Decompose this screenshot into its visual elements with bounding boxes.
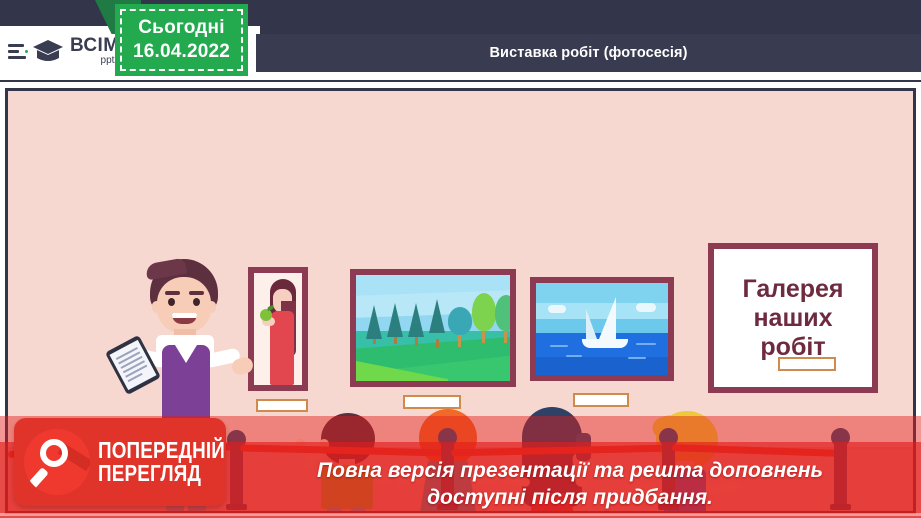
purchase-notice: Повна версія презентації та решта доповн… xyxy=(250,458,890,512)
guide-brow-right xyxy=(189,291,204,295)
artwork-landscape-with-trees[interactable] xyxy=(350,269,516,387)
sailboat-jib xyxy=(586,309,597,339)
pine-trunk xyxy=(415,337,418,346)
guide-ear-left xyxy=(152,301,161,313)
portrait-canvas xyxy=(254,273,302,385)
slide-header: ВСІМ pptx Сьогодні 16.04.2022 Виставка р… xyxy=(0,0,921,88)
guide-brow-left xyxy=(165,291,180,295)
plaque-portrait xyxy=(256,399,308,412)
logo-subtext: pptx xyxy=(70,56,119,66)
landscape-canvas xyxy=(356,275,510,381)
date-badge-label: Сьогодні xyxy=(138,17,224,39)
header-navy-right xyxy=(260,0,921,34)
page-title: Виставка робіт (фотосесія) xyxy=(489,45,687,61)
plaque-landscape xyxy=(403,395,461,409)
artwork-seascape-with-sailboat[interactable] xyxy=(530,277,674,381)
magnifier-icon xyxy=(24,429,90,495)
magnifier-handle xyxy=(26,467,49,491)
preview-badge-label: ПОПЕРЕДНІЙ ПЕРЕГЛЯД xyxy=(98,439,253,486)
apple-icon xyxy=(260,309,272,321)
preview-badge[interactable]: ПОПЕРЕДНІЙ ПЕРЕГЛЯД xyxy=(14,418,226,506)
pine-tree xyxy=(408,303,424,337)
sea-water-deep xyxy=(536,357,668,375)
wave-line xyxy=(628,357,646,359)
guide-face xyxy=(157,277,211,333)
pine-tree xyxy=(429,299,445,333)
wave-line xyxy=(566,355,582,357)
round-tree-teal xyxy=(448,307,472,335)
wave-line xyxy=(636,343,656,345)
date-badge: Сьогодні 16.04.2022 xyxy=(115,4,248,76)
magnifier-ring xyxy=(40,439,68,467)
guide-ear-right xyxy=(207,301,216,313)
speed-lines-icon xyxy=(8,44,26,59)
logo-accent-dot xyxy=(25,50,28,53)
guide-eye-right xyxy=(193,298,200,306)
logo-wordmark: ВСІМ xyxy=(70,36,119,55)
sailboat-mainsail xyxy=(599,297,616,339)
preview-badge-line-2: ПЕРЕГЛЯД xyxy=(98,462,225,485)
guide-teeth xyxy=(172,313,197,318)
round-tree-green xyxy=(472,293,496,331)
sailboat-hull xyxy=(582,339,628,348)
guide-eye-left xyxy=(168,298,175,306)
purchase-notice-line-1: Повна версія презентації та решта доповн… xyxy=(250,458,890,485)
graduation-cap-icon xyxy=(31,34,65,68)
plaque-gallery-sign xyxy=(778,357,836,371)
watermark-band-edge xyxy=(0,513,921,516)
plaque-seascape xyxy=(573,393,629,407)
date-badge-value: 16.04.2022 xyxy=(133,41,230,63)
round-tree-mid xyxy=(495,295,510,331)
presentation-slide: ВСІМ pptx Сьогодні 16.04.2022 Виставка р… xyxy=(0,0,921,518)
seascape-canvas xyxy=(536,283,668,375)
purchase-notice-line-2: доступні після придбання. xyxy=(250,485,890,512)
wave-line xyxy=(550,345,568,347)
pine-tree xyxy=(366,305,382,339)
tablet-screen xyxy=(109,340,156,390)
cloud-icon xyxy=(548,305,566,313)
cloud-icon xyxy=(636,303,656,312)
gallery-sign-line-2: наших xyxy=(753,304,832,332)
preview-badge-line-1: ПОПЕРЕДНІЙ xyxy=(98,439,225,462)
pine-trunk xyxy=(436,339,439,348)
slide-title-bar: Виставка робіт (фотосесія) xyxy=(256,34,921,72)
gallery-sign-line-1: Галерея xyxy=(743,275,844,303)
brand-logo[interactable]: ВСІМ pptx xyxy=(8,28,116,74)
pine-tree xyxy=(387,303,403,337)
header-divider xyxy=(0,80,921,82)
artwork-portrait-woman-with-apple[interactable] xyxy=(248,267,308,391)
